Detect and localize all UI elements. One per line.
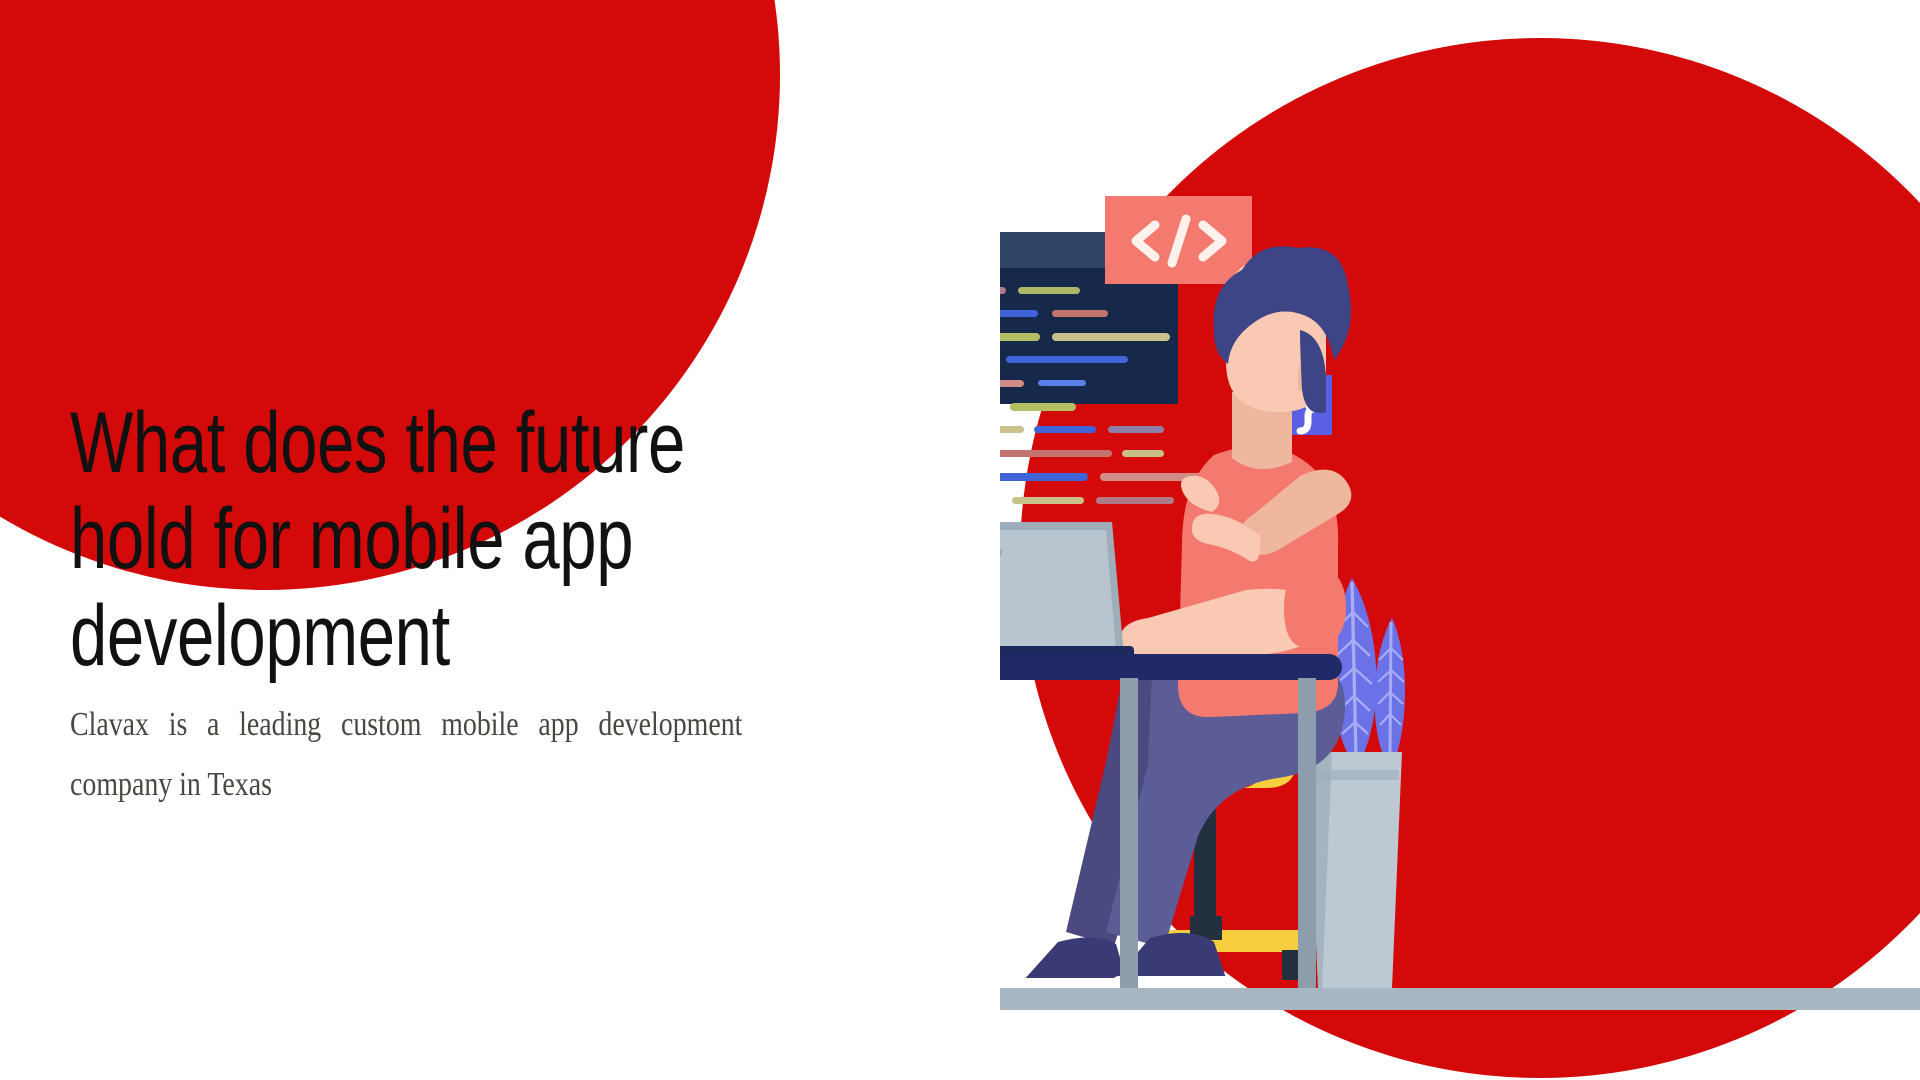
developer-at-desk-illustration	[1000, 0, 1920, 1080]
plant-pot	[1308, 752, 1402, 988]
page-title: What does the future hold for mobile app…	[70, 395, 795, 684]
desk-leg-right	[1298, 678, 1316, 990]
chair-wheel-right	[1282, 950, 1298, 980]
laptop-lid	[1000, 530, 1116, 650]
slide-canvas: What does the future hold for mobile app…	[0, 0, 1920, 1080]
hero-subtitle: Clavax is a leading custom mobile app de…	[70, 695, 742, 814]
desk-leg-mid	[1120, 678, 1138, 990]
desk-top	[1000, 654, 1342, 680]
code-tag-badge	[1105, 196, 1252, 284]
floor-line	[1000, 988, 1920, 1010]
hero-subtitle-text: Clavax is a leading custom mobile app de…	[70, 706, 742, 803]
laptop	[1000, 522, 1134, 662]
hero-copy-block: What does the future hold for mobile app…	[70, 395, 1000, 684]
illustration-stage	[1000, 0, 1920, 1080]
